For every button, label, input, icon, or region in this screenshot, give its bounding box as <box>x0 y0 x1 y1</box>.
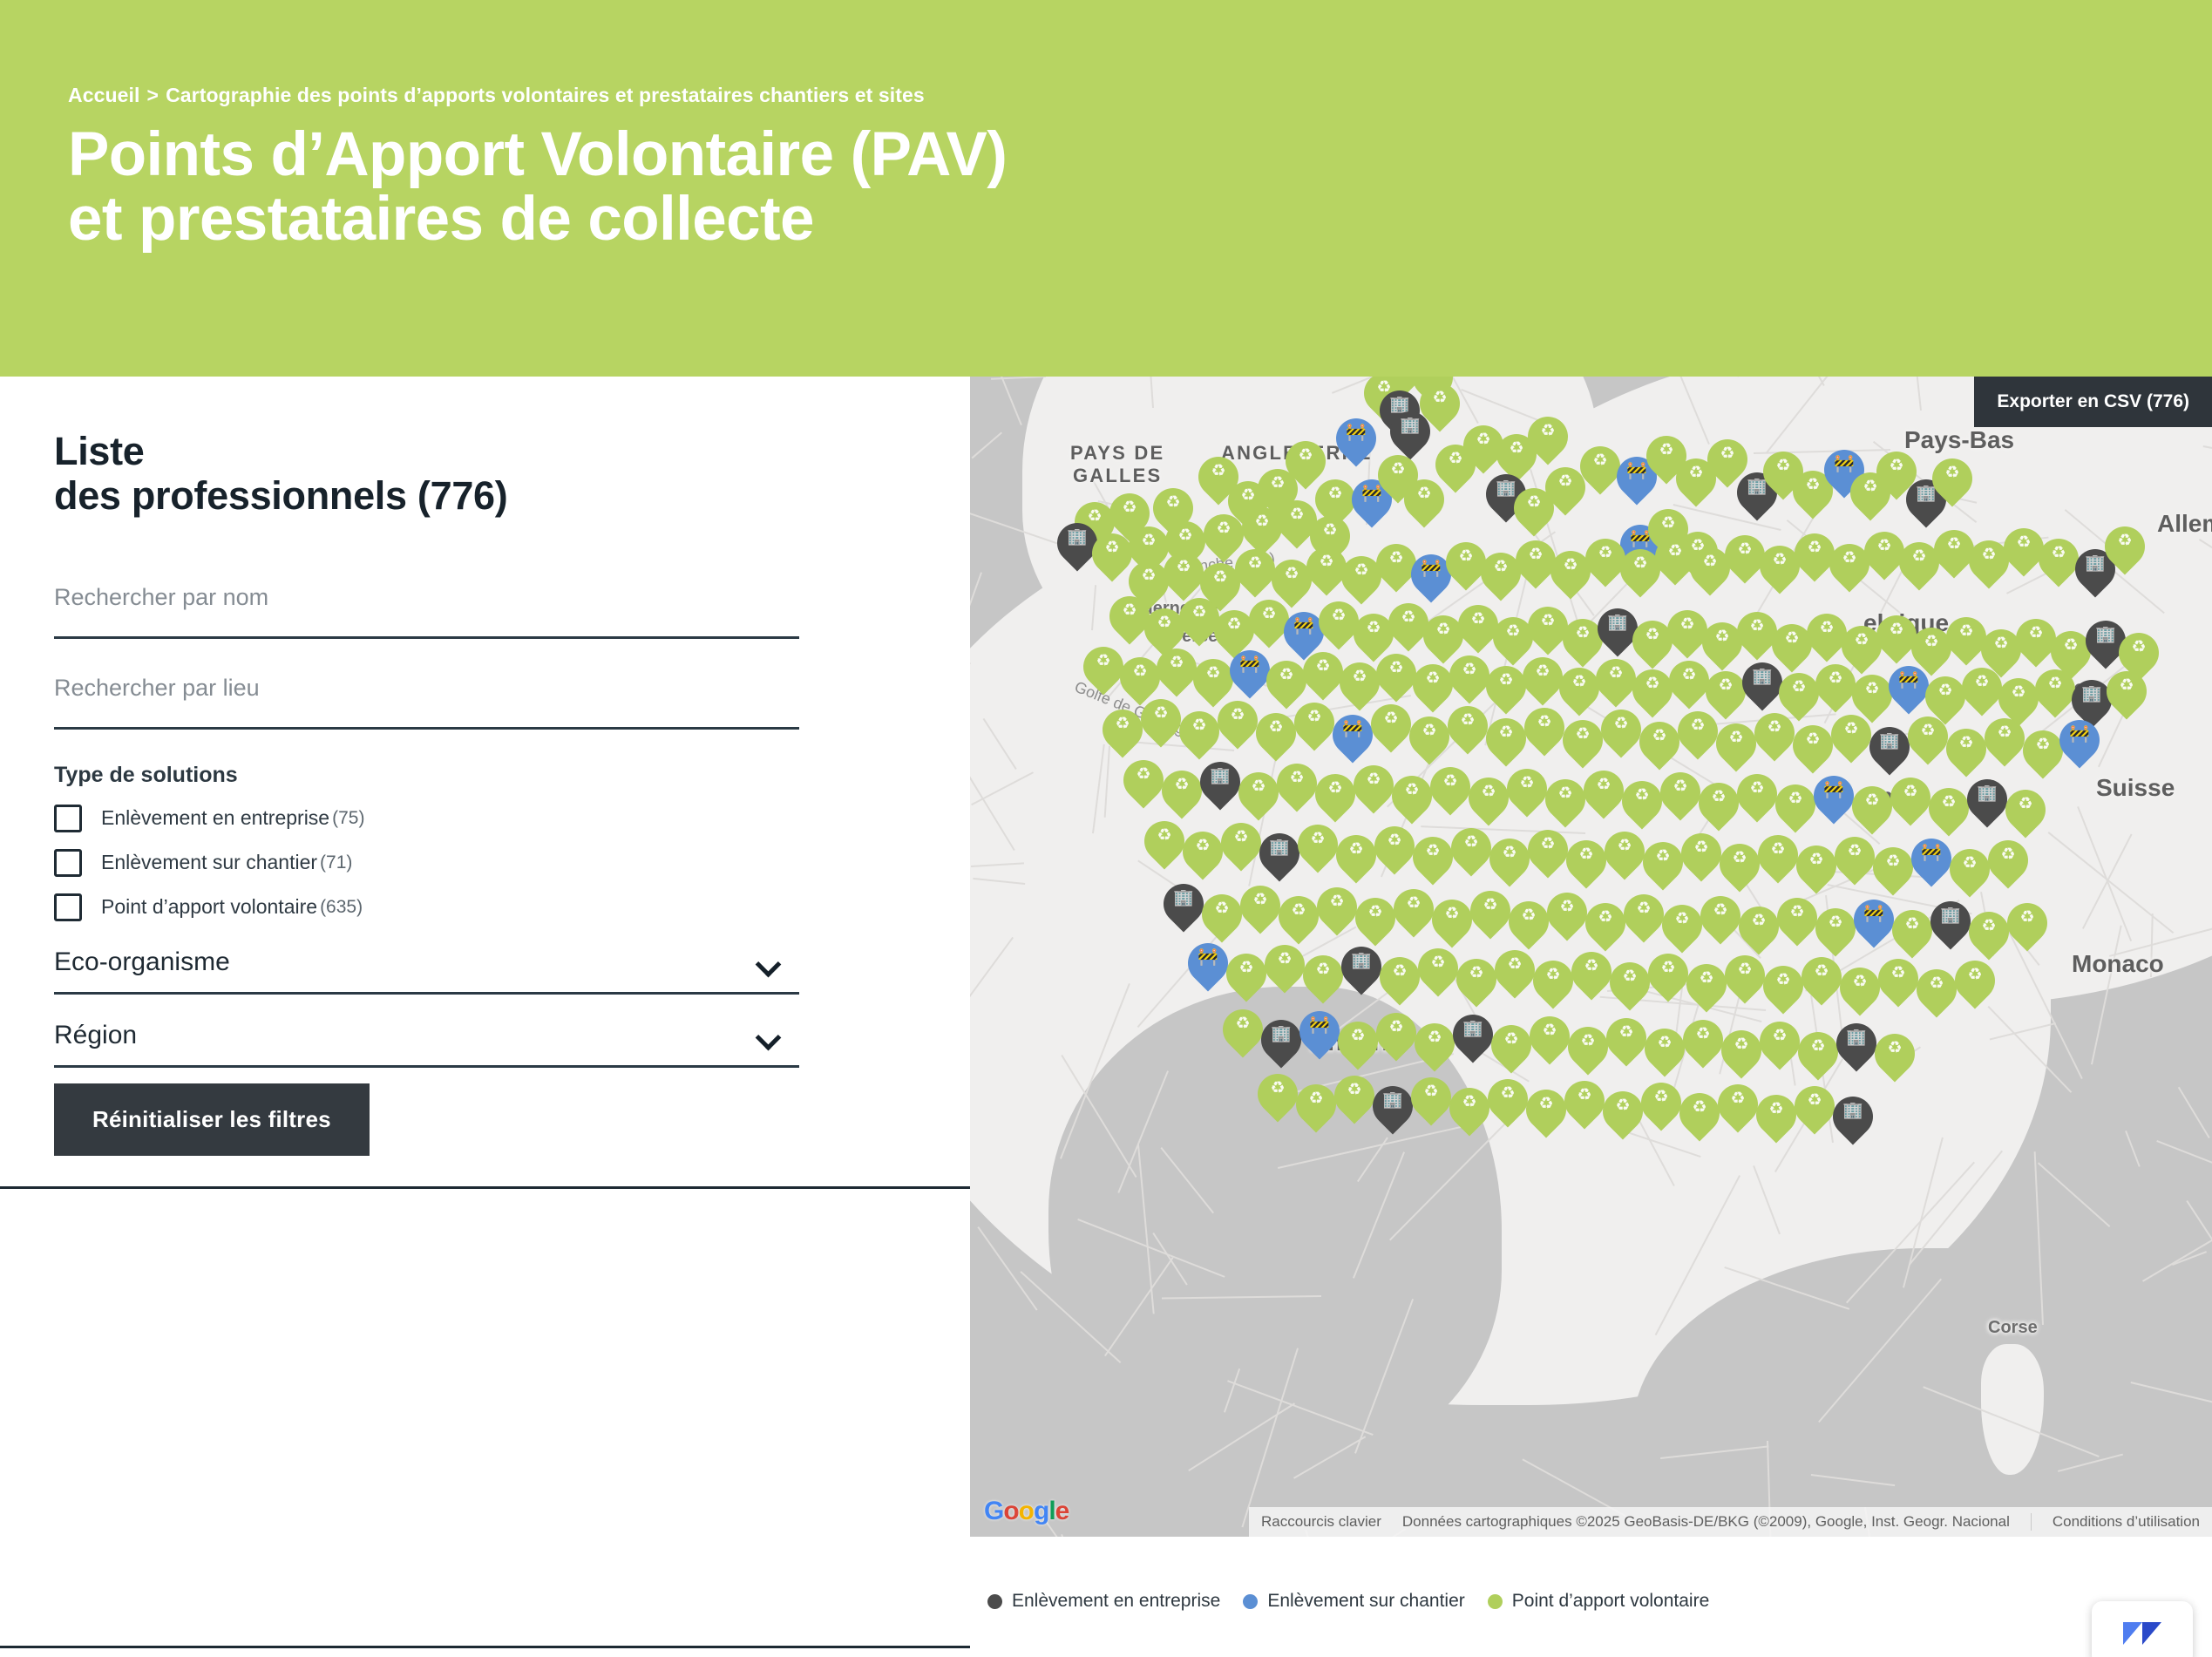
map-marker-green[interactable]: ♻ <box>1985 718 2025 771</box>
marker-glyph-icon: ♻ <box>1793 731 1833 748</box>
map-marker-green[interactable]: ♻ <box>1355 898 1395 950</box>
map-marker-green[interactable]: ♻ <box>1235 549 1275 601</box>
checkbox-count-enlevement-chantier: (71) <box>320 852 352 873</box>
map-marker-dark[interactable]: 🏢 <box>1200 762 1240 814</box>
map-marker-green[interactable]: ♻ <box>1725 955 1765 1008</box>
map-marker-green[interactable]: ♻ <box>1448 706 1488 758</box>
map-marker-green[interactable]: ♻ <box>1720 844 1760 896</box>
marker-glyph-icon: ♻ <box>1648 515 1688 532</box>
search-place-input[interactable] <box>54 663 799 730</box>
marker-glyph-icon: ♻ <box>1123 766 1164 783</box>
marker-glyph-icon: ♻ <box>1507 775 1547 791</box>
terms-link[interactable]: Conditions d’utilisation <box>2053 1513 2200 1531</box>
map-marker-green[interactable]: ♻ <box>1418 948 1458 1001</box>
map-marker-green[interactable]: ♻ <box>1380 957 1420 1009</box>
map-marker-green[interactable]: ♻ <box>1739 907 1779 959</box>
map-marker-green[interactable]: ♻ <box>1760 1022 1800 1074</box>
map-marker-green[interactable]: ♻ <box>1988 840 2028 893</box>
map-marker-green[interactable]: ♻ <box>1932 458 1972 511</box>
checkbox-row-point-apport-volontaire[interactable]: Point d’apport volontaire (635) <box>54 893 916 921</box>
marker-glyph-icon: ♻ <box>1706 677 1746 694</box>
marker-glyph-icon: ♻ <box>1380 963 1420 980</box>
map-marker-green[interactable]: ♻ <box>1777 898 1817 950</box>
filter-panel: Liste des professionnels (776) Type de s… <box>0 377 970 1189</box>
map-marker-green[interactable]: ♻ <box>1645 1029 1685 1081</box>
marker-glyph-icon: 🚧 <box>2059 726 2100 743</box>
checkbox-row-enlevement-chantier[interactable]: Enlèvement sur chantier (71) <box>54 849 916 877</box>
marker-glyph-icon: ♻ <box>1266 667 1306 683</box>
map-marker-green[interactable]: ♻ <box>1660 772 1700 825</box>
map-marker-green[interactable]: ♻ <box>1303 652 1343 704</box>
marker-glyph-icon: ♻ <box>1585 909 1625 926</box>
map-marker-green[interactable]: ♻ <box>1338 1022 1378 1074</box>
marker-glyph-icon: 🏢 <box>1742 669 1782 685</box>
marker-glyph-icon: ♻ <box>1223 1015 1263 1032</box>
map-marker-green[interactable]: ♻ <box>1639 722 1679 774</box>
map-marker-green[interactable]: ♻ <box>1962 668 2002 720</box>
map-marker-green[interactable]: ♻ <box>1763 966 1803 1018</box>
map-marker-green[interactable]: ♻ <box>1415 1023 1455 1076</box>
map-marker-green[interactable]: ♻ <box>1875 1034 1915 1086</box>
map-marker-dark[interactable]: 🏢 <box>1341 947 1381 999</box>
marker-glyph-icon: ♻ <box>1603 1097 1643 1114</box>
map-marker-green[interactable]: ♻ <box>1596 659 1636 711</box>
map-marker-green[interactable]: ♻ <box>1754 713 1795 765</box>
marker-glyph-icon: ♻ <box>1739 913 1779 929</box>
map-marker-green[interactable]: ♻ <box>1563 720 1603 772</box>
marker-glyph-icon: 🚧 <box>1230 656 1270 673</box>
map-marker-green[interactable]: ♻ <box>1449 1088 1489 1140</box>
map-marker-green[interactable]: ♻ <box>1758 835 1798 887</box>
map-marker-green[interactable]: ♻ <box>1411 1077 1451 1130</box>
chat-support-widget[interactable] <box>2092 1601 2193 1657</box>
marker-glyph-icon: ♻ <box>1144 827 1184 844</box>
map-marker-green[interactable]: ♻ <box>1238 772 1279 825</box>
map-marker-blue[interactable]: 🚧 <box>1854 900 1894 952</box>
map-marker-green[interactable]: ♻ <box>1533 961 1573 1013</box>
map-marker-green[interactable]: ♻ <box>1669 661 1709 713</box>
marker-glyph-icon: ♻ <box>1153 494 1193 511</box>
marker-glyph-icon: 🚧 <box>1299 1017 1340 1034</box>
marker-glyph-icon: 🏢 <box>1200 768 1240 784</box>
map-marker-green[interactable]: ♻ <box>1409 716 1449 769</box>
map-marker-green[interactable]: ♻ <box>1716 723 1756 776</box>
marker-glyph-icon: ♻ <box>1678 717 1718 734</box>
map-marker-green[interactable]: ♻ <box>1756 1095 1796 1147</box>
map-marker-green[interactable]: ♻ <box>1183 832 1223 884</box>
marker-glyph-icon: ♻ <box>1221 829 1261 845</box>
breadcrumb-home-link[interactable]: Accueil <box>68 84 140 106</box>
page-header: Accueil>Cartographie des points d’apport… <box>0 0 2212 377</box>
map-marker-green[interactable]: ♻ <box>1585 903 1625 955</box>
map-marker-dark[interactable]: 🏢 <box>1164 884 1204 936</box>
map-marker-green[interactable]: ♻ <box>1374 826 1415 879</box>
page-title-line-2: et prestataires de collecte <box>68 187 2212 252</box>
marker-glyph-icon: ♻ <box>1530 1022 1570 1039</box>
marker-glyph-icon: ♻ <box>1815 670 1856 687</box>
map-marker-green[interactable]: ♻ <box>1737 774 1777 826</box>
marker-glyph-icon: ♻ <box>1641 1089 1681 1105</box>
map-marker-green[interactable]: ♻ <box>1601 710 1641 762</box>
map-marker-green[interactable]: ♻ <box>1449 655 1489 708</box>
map-marker-green[interactable]: ♻ <box>1946 729 1986 781</box>
map-marker-green[interactable]: ♻ <box>1852 786 1892 839</box>
map-marker-green[interactable]: ♻ <box>1223 1009 1263 1062</box>
map-marker-green[interactable]: ♻ <box>1892 910 1932 962</box>
marker-glyph-icon: ♻ <box>1193 665 1233 682</box>
breadcrumb-separator: > <box>147 84 159 106</box>
marker-glyph-icon: ♻ <box>1660 778 1700 795</box>
marker-glyph-icon: ♻ <box>1334 1082 1374 1098</box>
marker-glyph-icon: ♻ <box>1238 778 1279 795</box>
map-marker-green[interactable]: ♻ <box>1648 954 1688 1006</box>
map-marker-green[interactable]: ♻ <box>1584 771 1624 823</box>
marker-glyph-icon: ♻ <box>1645 1035 1685 1051</box>
map-marker-green[interactable]: ♻ <box>1662 905 1702 957</box>
map-marker-green[interactable]: ♻ <box>1559 668 1599 720</box>
marker-glyph-icon: ♻ <box>1622 787 1662 804</box>
map-marker-green[interactable]: ♻ <box>1815 908 1856 961</box>
marker-glyph-icon: ♻ <box>1456 965 1496 981</box>
legend-label-point-apport-volontaire: Point d’apport volontaire <box>1512 1591 1709 1612</box>
map-marker-green[interactable]: ♻ <box>1495 950 1535 1002</box>
map-marker-green[interactable]: ♻ <box>1394 889 1434 941</box>
map-marker-green[interactable]: ♻ <box>1890 778 1930 830</box>
map-marker-green[interactable]: ♻ <box>1526 1090 1566 1142</box>
map-marker-green[interactable]: ♻ <box>1528 417 1568 469</box>
marker-glyph-icon: ♻ <box>1296 1090 1336 1107</box>
map-marker-green[interactable]: ♻ <box>1835 837 1875 889</box>
map-marker-green[interactable]: ♻ <box>1566 840 1606 893</box>
map-marker-green[interactable]: ♻ <box>1622 781 1662 833</box>
map-marker-dark[interactable]: 🏢 <box>1930 901 1971 954</box>
map-marker-green[interactable]: ♻ <box>1929 788 1969 840</box>
map-marker-green[interactable]: ♻ <box>1840 968 1880 1020</box>
map-marker-green[interactable]: ♻ <box>1507 769 1547 821</box>
select-region[interactable]: Région <box>54 1021 799 1068</box>
marker-glyph-icon: ♻ <box>1932 465 1972 481</box>
map-marker-green[interactable]: ♻ <box>1413 837 1453 889</box>
marker-glyph-icon: ♻ <box>1875 1040 1915 1056</box>
map-marker-green[interactable]: ♻ <box>1969 912 2009 964</box>
marker-glyph-icon: ♻ <box>1165 527 1205 544</box>
marker-glyph-icon: ♻ <box>1298 831 1338 847</box>
map-marker-dark[interactable]: 🏢 <box>1742 662 1782 715</box>
marker-glyph-icon: ♻ <box>1092 540 1132 556</box>
checkbox-row-enlevement-entreprise[interactable]: Enlèvement en entreprise (75) <box>54 805 916 832</box>
map-marker-green[interactable]: ♻ <box>1605 832 1645 884</box>
map-marker-green[interactable]: ♻ <box>1523 657 1563 710</box>
map-marker-green[interactable]: ♻ <box>1456 959 1496 1011</box>
marker-glyph-icon: ♻ <box>1584 777 1624 793</box>
map-marker-green[interactable]: ♻ <box>1524 708 1564 760</box>
map-marker-green[interactable]: ♻ <box>1509 901 1549 954</box>
marker-glyph-icon: ♻ <box>1303 961 1343 978</box>
marker-glyph-icon: ♻ <box>1394 895 1434 912</box>
map-marker-green[interactable]: ♻ <box>1486 718 1526 771</box>
marker-glyph-icon: 🏢 <box>1967 785 2007 802</box>
map-marker-green[interactable]: ♻ <box>1793 725 1833 778</box>
map-marker-green[interactable]: ♻ <box>1643 842 1683 894</box>
map-marker-green[interactable]: ♻ <box>1256 713 1296 765</box>
map-marker-green[interactable]: ♻ <box>1221 823 1261 875</box>
checkbox-point-apport-volontaire[interactable] <box>54 893 82 921</box>
marker-glyph-icon: ♻ <box>1157 655 1197 671</box>
map-marker-dark[interactable]: 🏢 <box>1259 833 1299 886</box>
map-marker-green[interactable]: ♻ <box>1796 845 1836 898</box>
map-marker-green[interactable]: ♻ <box>1315 774 1355 826</box>
map-marker-green[interactable]: ♻ <box>1721 1030 1761 1083</box>
map-marker-green[interactable]: ♻ <box>1571 952 1612 1004</box>
map-marker-green[interactable]: ♻ <box>1298 825 1338 877</box>
marker-glyph-icon: ♻ <box>1669 667 1709 683</box>
map-marker-dark[interactable]: 🏢 <box>1836 1023 1876 1076</box>
map-marker-green[interactable]: ♻ <box>1795 1086 1835 1138</box>
marker-glyph-icon: ♻ <box>1179 717 1219 734</box>
map-marker-blue[interactable]: 🚧 <box>1299 1011 1340 1063</box>
map-marker-green[interactable]: ♻ <box>1681 833 1721 886</box>
checkbox-count-enlevement-entreprise: (75) <box>332 808 364 829</box>
map-marker-green[interactable]: ♻ <box>1083 647 1123 699</box>
map-marker-green[interactable]: ♻ <box>1700 896 1740 948</box>
map-marker-green[interactable]: ♻ <box>1469 778 1509 830</box>
map-marker-blue[interactable]: 🚧 <box>1333 715 1373 767</box>
map-marker-green[interactable]: ♻ <box>1179 711 1219 764</box>
map-marker-green[interactable]: ♻ <box>1679 1093 1720 1145</box>
google-logo[interactable]: Google <box>984 1497 1069 1526</box>
map-marker-green[interactable]: ♻ <box>1775 784 1815 837</box>
marker-glyph-icon: ♻ <box>1336 841 1376 858</box>
checkbox-label-point-apport-volontaire: Point d’apport volontaire <box>101 895 317 919</box>
legend-item-point-apport-volontaire: Point d’apport volontaire <box>1488 1591 1709 1612</box>
map-marker-green[interactable]: ♻ <box>1917 969 1957 1022</box>
map-marker-green[interactable]: ♻ <box>1873 847 1913 900</box>
marker-glyph-icon: ♻ <box>1563 726 1603 743</box>
map-marker-green[interactable]: ♻ <box>1470 891 1510 943</box>
map-marker-green[interactable]: ♻ <box>1624 894 1664 947</box>
map-marker-green[interactable]: ♻ <box>1202 894 1242 947</box>
map-marker-green[interactable]: ♻ <box>1162 771 1202 823</box>
map-marker-green[interactable]: ♻ <box>1277 764 1317 816</box>
map-marker-green[interactable]: ♻ <box>1815 664 1856 716</box>
map-marker-blue[interactable]: 🚧 <box>1230 650 1270 703</box>
search-name-field <box>54 573 916 639</box>
map-marker-blue[interactable]: 🚧 <box>1188 943 1228 995</box>
map-marker-green[interactable]: ♻ <box>1564 1081 1605 1133</box>
reset-filters-button[interactable]: Réinitialiser les filtres <box>54 1083 370 1156</box>
attribution-divider <box>2031 1513 2032 1531</box>
map-marker-green[interactable]: ♻ <box>1420 384 1460 436</box>
map-marker-green[interactable]: ♻ <box>1683 1020 1723 1072</box>
export-csv-button[interactable]: Exporter en CSV (776) <box>1974 377 2212 427</box>
page-title-line-1: Points d’Apport Volontaire (PAV) <box>68 123 2212 187</box>
map-marker-green[interactable]: ♻ <box>1144 821 1184 873</box>
map-marker-green[interactable]: ♻ <box>1718 1084 1758 1137</box>
map-marker-green[interactable]: ♻ <box>1489 839 1530 891</box>
map-marker-green[interactable]: ♻ <box>1258 1074 1298 1126</box>
keyboard-shortcuts-link[interactable]: Raccourcis clavier <box>1261 1513 1381 1531</box>
map-marker-green[interactable]: ♻ <box>1678 711 1718 764</box>
marker-glyph-icon: ♻ <box>1545 785 1585 802</box>
marker-glyph-icon: ♻ <box>1892 916 1932 933</box>
map-marker-green[interactable]: ♻ <box>1908 716 1948 769</box>
map-marker-green[interactable]: ♻ <box>1103 710 1143 762</box>
marker-glyph-icon: ♻ <box>1831 721 1871 737</box>
marker-glyph-icon: ♻ <box>1256 719 1296 736</box>
map-marker-green[interactable]: ♻ <box>1955 961 1995 1013</box>
map-marker-green[interactable]: ♻ <box>1392 776 1432 828</box>
marker-glyph-icon: ♻ <box>1925 682 1965 699</box>
map-marker-green[interactable]: ♻ <box>1488 1079 1528 1131</box>
map-marker-green[interactable]: ♻ <box>1699 783 1739 835</box>
map-marker-green[interactable]: ♻ <box>1123 760 1164 812</box>
map-marker-blue[interactable]: 🚧 <box>2059 720 2100 772</box>
map-marker-green[interactable]: ♻ <box>1801 957 1842 1009</box>
search-name-input[interactable] <box>54 573 799 639</box>
marker-glyph-icon: 🏢 <box>1261 1026 1301 1042</box>
map-marker-dark[interactable]: 🏢 <box>1869 727 1910 779</box>
search-place-field <box>54 663 916 730</box>
map-marker-green[interactable]: ♻ <box>1432 900 1472 952</box>
map-marker-green[interactable]: ♻ <box>1354 765 1394 818</box>
marker-glyph-icon: ♻ <box>2105 533 2145 549</box>
map-marker-green[interactable]: ♻ <box>1798 1032 1838 1084</box>
map-marker-green[interactable]: ♻ <box>1486 666 1526 718</box>
marker-glyph-icon: ♻ <box>1683 1026 1723 1042</box>
map-canvas[interactable]: PAYS DEGALLESANGLETERREPays-BasAllemaelg… <box>970 377 2212 1537</box>
map-marker-blue[interactable]: 🚧 <box>1889 666 1929 718</box>
marker-glyph-icon: ♻ <box>1415 1029 1455 1046</box>
map-marker-green[interactable]: ♻ <box>1279 896 1319 948</box>
map-marker-green[interactable]: ♻ <box>1198 457 1238 509</box>
map-marker-blue[interactable]: 🚧 <box>1814 776 1854 828</box>
marker-glyph-icon: ♻ <box>1420 390 1460 406</box>
map-marker-green[interactable]: ♻ <box>1491 1025 1531 1077</box>
map-marker-green[interactable]: ♻ <box>1317 887 1357 940</box>
map-marker-dark[interactable]: 🏢 <box>1261 1020 1301 1072</box>
map-marker-dark[interactable]: 🏢 <box>1373 1086 1413 1138</box>
marker-glyph-icon: ♻ <box>1596 665 1636 682</box>
map-label-pays-bas: Pays-Bas <box>1904 426 2014 454</box>
marker-glyph-icon: ♻ <box>1265 951 1305 968</box>
map-marker-green[interactable]: ♻ <box>1141 699 1181 751</box>
marker-glyph-icon: ♻ <box>1648 960 1688 976</box>
map-marker-green[interactable]: ♻ <box>1568 1027 1608 1079</box>
map-marker-green[interactable]: ♻ <box>1296 1084 1336 1137</box>
marker-glyph-icon: ♻ <box>1354 771 1394 788</box>
marker-glyph-icon: ♻ <box>1258 1080 1298 1097</box>
map-marker-green[interactable]: ♻ <box>1528 830 1568 882</box>
map-marker-green[interactable]: ♻ <box>1218 701 1258 753</box>
map-marker-green[interactable]: ♻ <box>1157 649 1197 701</box>
map-marker-green[interactable]: ♻ <box>1376 1013 1416 1065</box>
map-marker-green[interactable]: ♻ <box>2107 671 2147 723</box>
panel-title: Liste des professionnels (776) <box>54 429 916 519</box>
map-marker-green[interactable]: ♻ <box>1371 704 1411 757</box>
marker-glyph-icon: ♻ <box>1890 784 1930 800</box>
map-label-monaco: Monaco <box>2072 950 2164 978</box>
map-marker-green[interactable]: ♻ <box>1547 893 1587 945</box>
marker-glyph-icon: ♻ <box>1775 791 1815 807</box>
marker-glyph-icon: ♻ <box>1371 710 1411 727</box>
panel-title-line-1: Liste <box>54 429 916 473</box>
map-marker-green[interactable]: ♻ <box>1606 1018 1646 1070</box>
map-marker-blue[interactable]: 🚧 <box>1336 418 1376 471</box>
marker-glyph-icon: ♻ <box>1240 892 1280 908</box>
map-marker-green[interactable]: ♻ <box>2105 526 2145 579</box>
marker-glyph-icon: ♻ <box>1486 672 1526 689</box>
map-marker-dark[interactable]: 🏢 <box>1453 1015 1493 1067</box>
checkbox-enlevement-entreprise[interactable] <box>54 805 82 832</box>
marker-glyph-icon: ♻ <box>1448 712 1488 729</box>
marker-glyph-icon: ♻ <box>1355 904 1395 920</box>
checkbox-enlevement-chantier[interactable] <box>54 849 82 877</box>
marker-glyph-icon: ♻ <box>1929 794 1969 811</box>
map-marker-green[interactable]: ♻ <box>1686 964 1727 1016</box>
map-marker-green[interactable]: ♻ <box>1240 886 1280 938</box>
marker-glyph-icon: 🚧 <box>1824 456 1864 472</box>
map-marker-green[interactable]: ♻ <box>2005 790 2046 842</box>
map-marker-green[interactable]: ♻ <box>1610 962 1650 1015</box>
chevron-down-icon <box>757 955 780 968</box>
marker-glyph-icon: ♻ <box>1376 1019 1416 1036</box>
map-marker-blue[interactable]: 🚧 <box>1911 839 1951 891</box>
map-marker-green[interactable]: ♻ <box>1294 703 1334 755</box>
map-marker-green[interactable]: ♻ <box>2007 903 2047 955</box>
map-marker-green[interactable]: ♻ <box>1580 446 1620 499</box>
map-marker-green[interactable]: ♻ <box>1603 1091 1643 1144</box>
page-title: Points d’Apport Volontaire (PAV) et pres… <box>68 123 2212 252</box>
map-marker-green[interactable]: ♻ <box>2023 730 2063 783</box>
map-marker-green[interactable]: ♻ <box>1451 828 1491 880</box>
legend-dot-icon <box>1243 1594 1258 1609</box>
marker-glyph-icon: ♻ <box>1204 520 1244 537</box>
map-marker-green[interactable]: ♻ <box>1334 1076 1374 1128</box>
marker-glyph-icon: ♻ <box>1777 904 1817 920</box>
map-marker-green[interactable]: ♻ <box>1430 767 1470 819</box>
marker-glyph-icon: 🚧 <box>1889 672 1929 689</box>
marker-glyph-icon: ♻ <box>1202 900 1242 917</box>
map-marker-green[interactable]: ♻ <box>1376 654 1416 706</box>
map-marker-green[interactable]: ♻ <box>1831 715 1871 767</box>
map-marker-green[interactable]: ♻ <box>1530 1016 1570 1069</box>
map-marker-green[interactable]: ♻ <box>1545 779 1585 832</box>
map-marker-green[interactable]: ♻ <box>1226 954 1266 1006</box>
marker-glyph-icon: ♻ <box>1580 452 1620 469</box>
marker-glyph-icon: ♻ <box>1338 1028 1378 1044</box>
marker-glyph-icon: ♻ <box>1317 893 1357 910</box>
marker-glyph-icon: ♻ <box>1411 1083 1451 1100</box>
marker-glyph-icon: ♻ <box>1528 423 1568 439</box>
select-eco-organisme[interactable]: Eco-organisme <box>54 947 799 995</box>
marker-glyph-icon: ♻ <box>1491 1031 1531 1048</box>
map-road <box>2125 1131 2141 1167</box>
marker-glyph-icon: 🏢 <box>1930 907 1971 924</box>
marker-glyph-icon: ♻ <box>1528 836 1568 852</box>
map-marker-green[interactable]: ♻ <box>1336 835 1376 887</box>
map-marker-green[interactable]: ♻ <box>1950 849 1990 901</box>
map-marker-green[interactable]: ♻ <box>1641 1083 1681 1135</box>
map-marker-green[interactable]: ♻ <box>2039 539 2079 591</box>
map-marker-dark[interactable]: 🏢 <box>1967 779 2007 832</box>
marker-glyph-icon: ♻ <box>1409 723 1449 739</box>
map-marker-dark[interactable]: 🏢 <box>1833 1097 1873 1149</box>
map-marker-green[interactable]: ♻ <box>1878 959 1918 1011</box>
map-marker-green[interactable]: ♻ <box>2035 669 2075 722</box>
map-marker-green[interactable]: ♻ <box>1303 955 1343 1008</box>
map-marker-green[interactable]: ♻ <box>1092 533 1132 586</box>
map-marker-green[interactable]: ♻ <box>1265 945 1305 997</box>
